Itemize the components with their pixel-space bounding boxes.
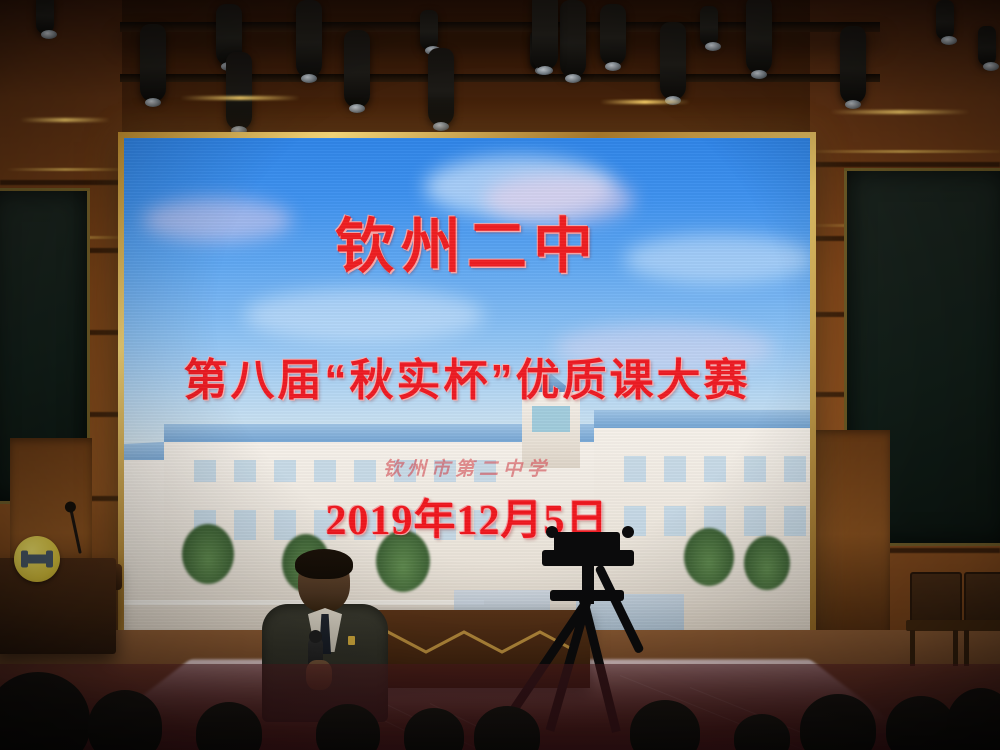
cloud	[244, 288, 484, 342]
spotlight-icon	[700, 6, 718, 46]
truss-rim-light	[600, 100, 690, 104]
building-signage: 钦州市第二中学	[383, 454, 551, 481]
speaker-lapel-badge	[348, 636, 355, 645]
wall-gold-trim	[804, 150, 1000, 153]
speaker-hair	[295, 549, 353, 579]
led-screen: 钦州市第二中学 钦州二中 第八届“秋实杯”优质课大赛 2019年12月5日	[124, 138, 810, 638]
spotlight-icon	[532, 0, 558, 70]
wall-seam	[0, 180, 124, 185]
spotlight-icon	[296, 0, 322, 78]
spotlight-icon	[140, 24, 166, 102]
stage-chair	[960, 572, 1000, 664]
tripod-pan-arm	[594, 564, 644, 654]
right-wall-door	[812, 430, 890, 638]
spotlight-icon	[560, 0, 586, 78]
wall-seam	[804, 162, 1000, 167]
window	[532, 406, 570, 432]
stage-chair	[906, 572, 962, 664]
led-screen-frame: 钦州市第二中学 钦州二中 第八届“秋实杯”优质课大赛 2019年12月5日	[118, 132, 816, 644]
spotlight-icon	[428, 48, 454, 126]
spotlight-icon	[660, 22, 686, 100]
podium-emblem	[14, 536, 60, 582]
truss-rim-light	[20, 118, 110, 122]
podium-emblem-mark	[23, 555, 51, 564]
slide-heading: 钦州二中	[124, 198, 810, 285]
spotlight-icon	[746, 0, 772, 74]
spotlight-icon	[978, 26, 996, 66]
spotlight-icon	[600, 4, 626, 66]
spotlight-icon	[420, 10, 438, 50]
spotlight-icon	[344, 30, 370, 108]
spotlight-icon	[226, 52, 252, 130]
truss-rim-light	[830, 110, 970, 114]
truss-rim-light	[180, 96, 300, 100]
spotlight-icon	[936, 0, 954, 40]
wall-gold-trim	[6, 168, 124, 171]
spotlight-icon	[36, 0, 54, 34]
auditorium-scene: 钦州市第二中学 钦州二中 第八届“秋实杯”优质课大赛 2019年12月5日	[0, 0, 1000, 750]
slide-date: 2019年12月5日	[124, 486, 810, 547]
spotlight-icon	[840, 26, 866, 104]
slide-subheading: 第八届“秋实杯”优质课大赛	[124, 344, 810, 408]
